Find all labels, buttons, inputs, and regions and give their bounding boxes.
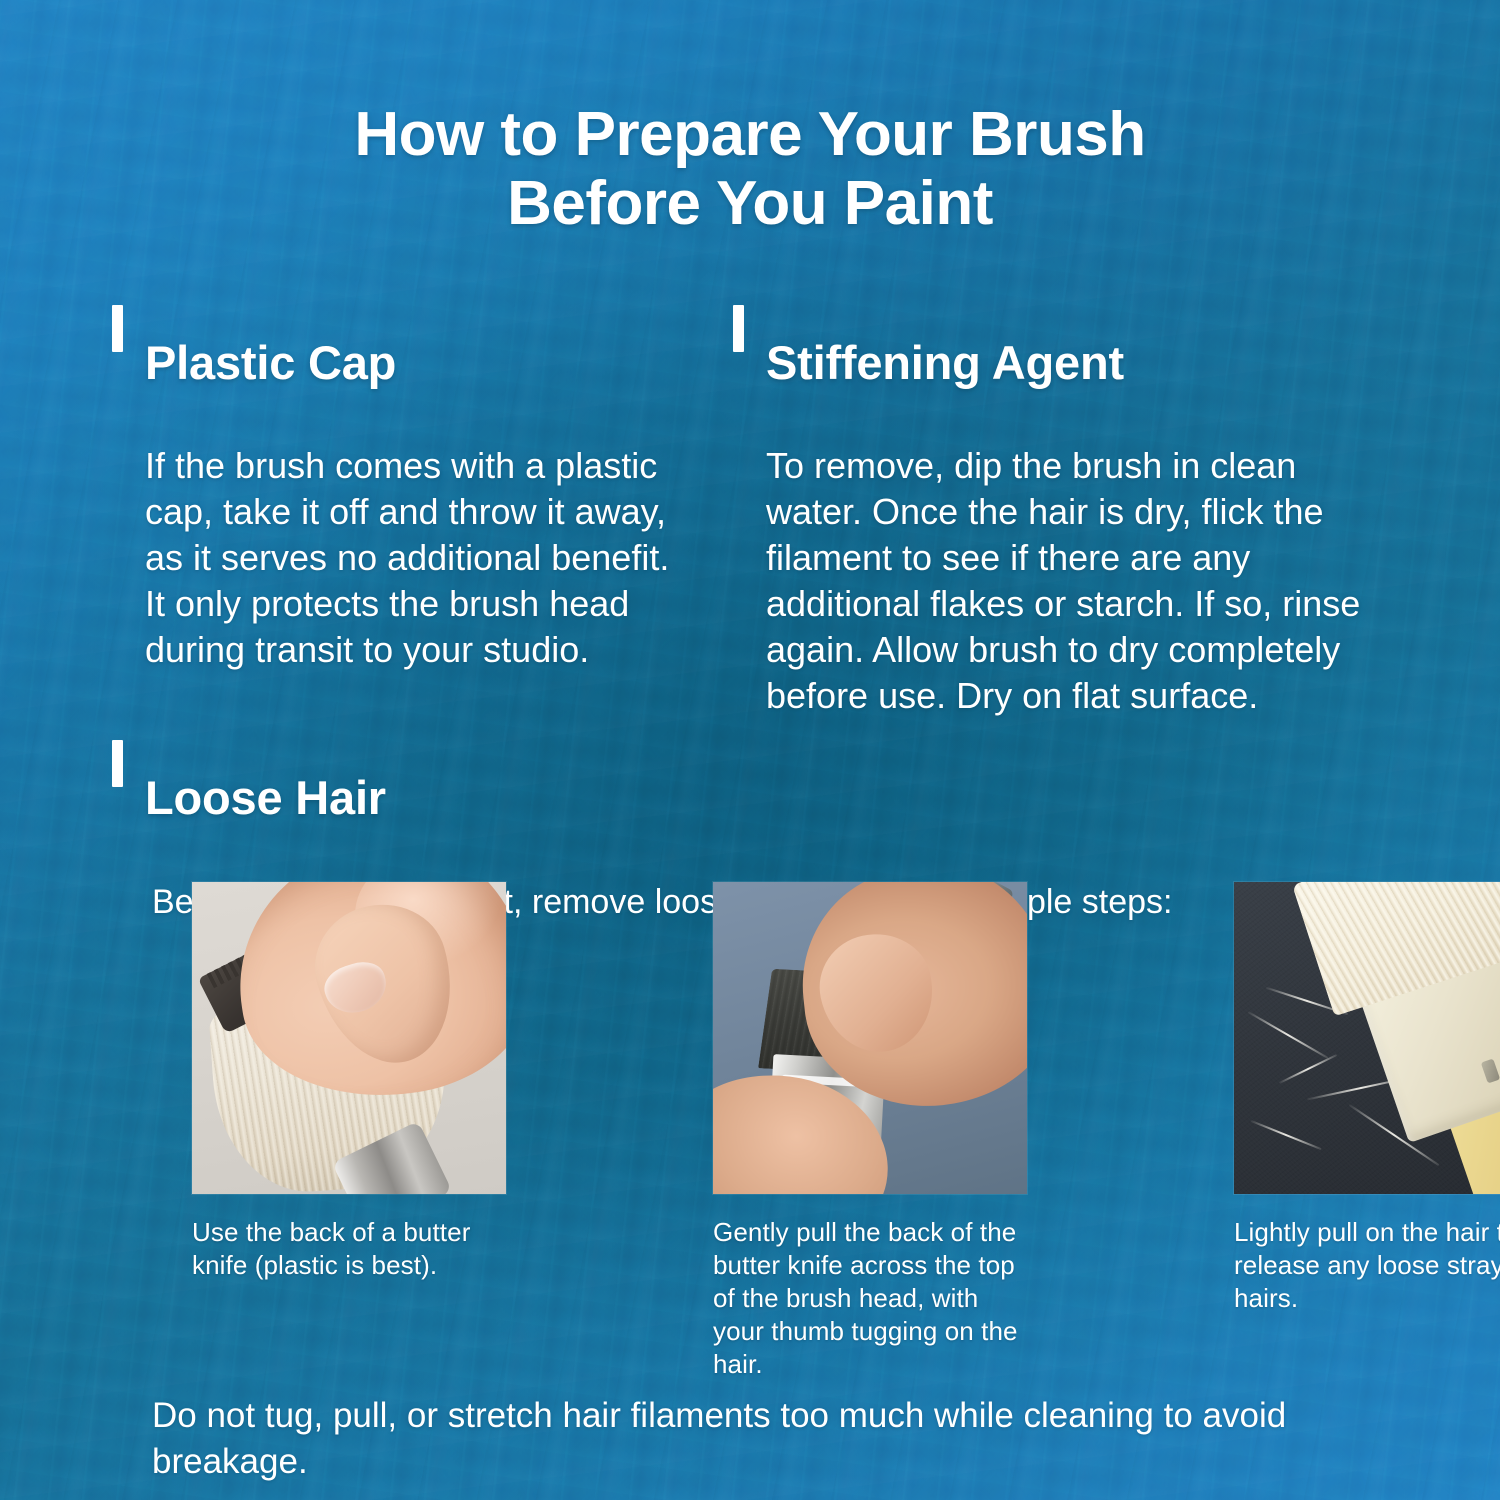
section-title-stiffening-agent: Stiffening Agent — [766, 339, 1124, 386]
section-heading-loose-hair: Loose Hair — [112, 735, 1382, 860]
step-photo-butter-knife-on-round-brush — [192, 882, 506, 1194]
step-item-2: Gently pull the back of the butter knife… — [713, 882, 1027, 1381]
step-photo-row: Use the back of a butter knife (plastic … — [152, 866, 1348, 1397]
page-title-line-1: How to Prepare Your Brush — [354, 100, 1145, 169]
step-item-1: Use the back of a butter knife (plastic … — [192, 882, 506, 1381]
step-caption-2: Gently pull the back of the butter knife… — [713, 1216, 1027, 1381]
infographic-poster: How to Prepare Your Brush Before You Pai… — [0, 0, 1500, 1500]
accent-bar-icon — [112, 740, 123, 787]
step-photo-knife-across-brush-head — [713, 882, 1027, 1194]
step-caption-3: Lightly pull on the hair to release any … — [1234, 1216, 1500, 1315]
section-body-plastic-cap: If the brush comes with a plastic cap, t… — [145, 443, 672, 673]
page-title-line-2: Before You Paint — [150, 169, 1350, 238]
footnote-warning: Do not tug, pull, or stretch hair filame… — [152, 1393, 1382, 1485]
section-plastic-cap: Plastic Cap If the brush comes with a pl… — [112, 300, 672, 709]
step-caption-1: Use the back of a butter knife (plastic … — [192, 1216, 506, 1282]
step-photo-loose-stray-hairs — [1234, 882, 1500, 1194]
section-title-loose-hair: Loose Hair — [145, 774, 386, 821]
page-title: How to Prepare Your Brush Before You Pai… — [0, 100, 1500, 239]
section-heading-plastic-cap: Plastic Cap — [112, 300, 672, 425]
accent-bar-icon — [733, 305, 744, 352]
section-title-plastic-cap: Plastic Cap — [145, 339, 396, 386]
section-body-stiffening-agent: To remove, dip the brush in clean water.… — [766, 443, 1373, 719]
section-heading-stiffening-agent: Stiffening Agent — [733, 300, 1373, 425]
accent-bar-icon — [112, 305, 123, 352]
step-item-3: Lightly pull on the hair to release any … — [1234, 882, 1500, 1381]
section-stiffening-agent: Stiffening Agent To remove, dip the brus… — [733, 300, 1373, 755]
